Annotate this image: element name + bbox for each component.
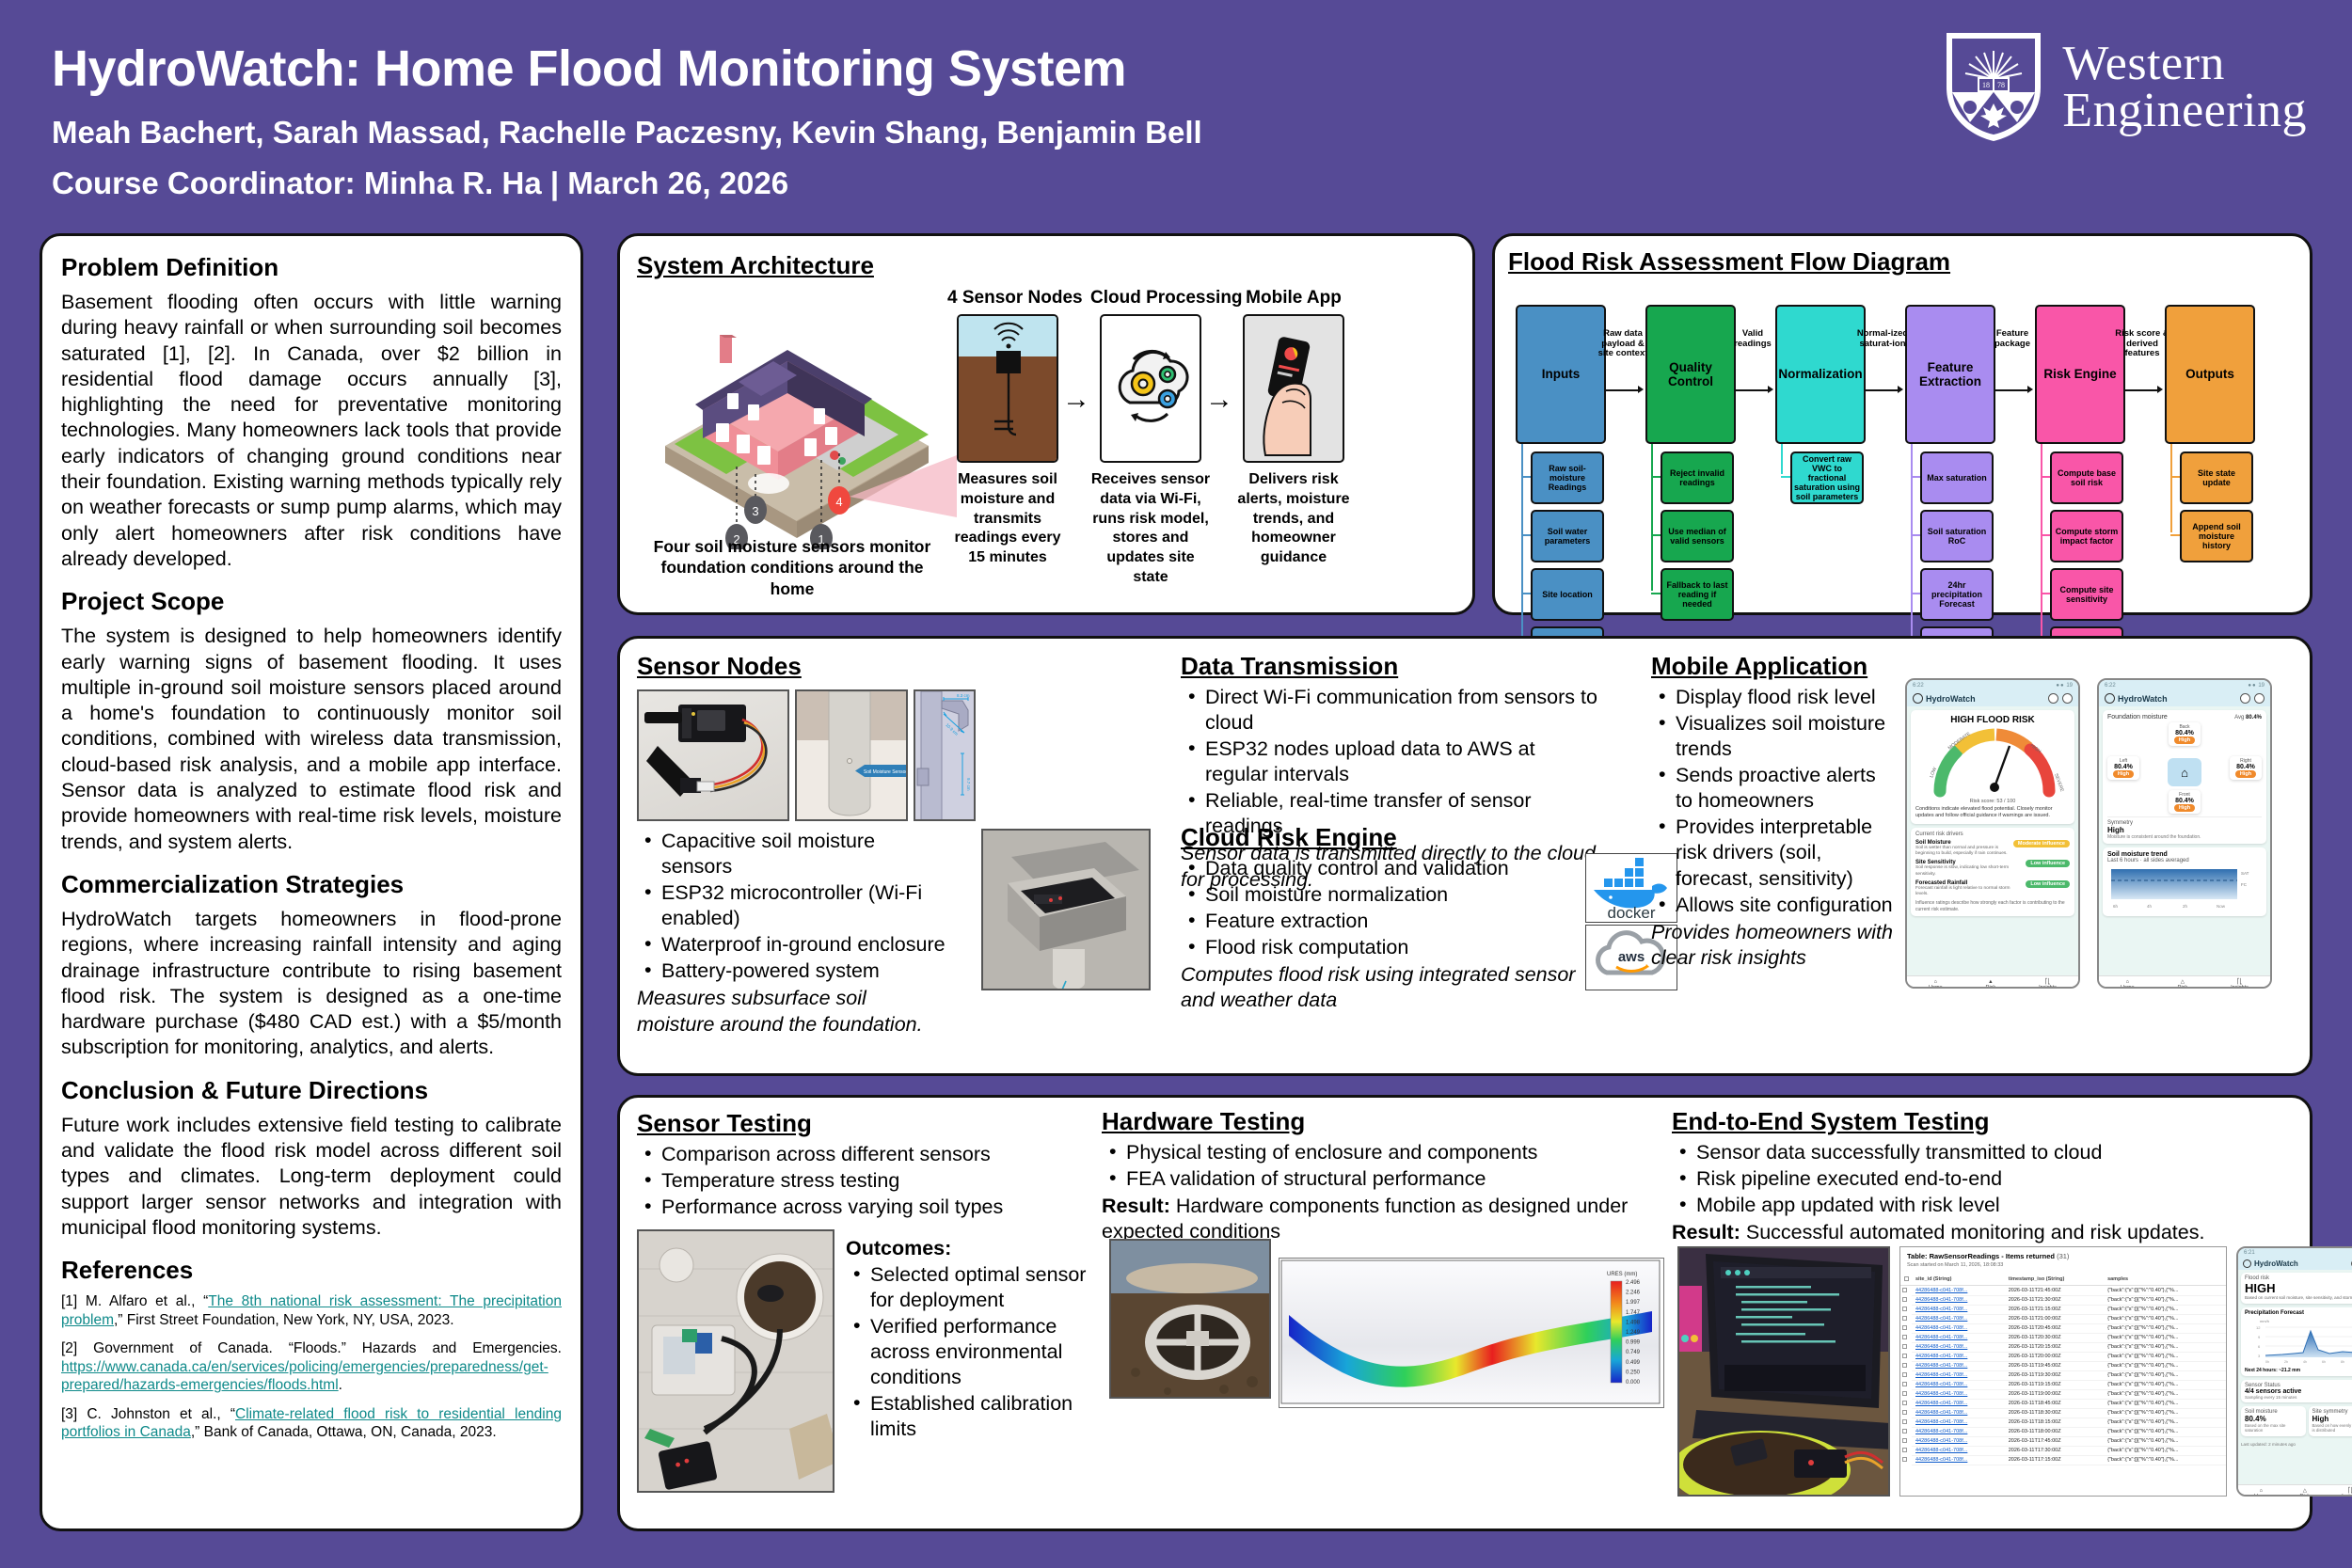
- site-id-link[interactable]: 44286488-c041-708f...: [1912, 1295, 2005, 1305]
- phone-mockup-risk: 6:22 ●● 19 HydroWatch HIGH FLOOD RISK: [1905, 678, 2080, 989]
- flow-edge-label: Feature package: [1984, 329, 2041, 349]
- svg-text:0h: 0h: [2265, 1360, 2269, 1364]
- risk-gauge: LOW MODERATE HIGH SEVERE: [1915, 727, 2074, 799]
- conclusion-body: Future work includes extensive field tes…: [61, 1113, 562, 1241]
- row-checkbox[interactable]: [1900, 1295, 1912, 1305]
- foundation-side-card: Left80.4%High: [2107, 756, 2139, 780]
- phone1-footnote: Influence ratings describe how strongly …: [1915, 900, 2070, 912]
- site-id-link[interactable]: 44286488-c041-708f...: [1912, 1418, 2005, 1427]
- row-checkbox[interactable]: [1900, 1333, 1912, 1342]
- phone3-symmetry-card: Site symmetry High Based on how evenly m…: [2309, 1406, 2352, 1436]
- hardware-result-label: Result:: [1102, 1195, 1170, 1217]
- table-cell: {"back":{"s":[]{"%":"0.40"},{"%...: [2104, 1380, 2226, 1389]
- table-cell: {"back":{"s":[]{"%":"0.40"},{"%...: [2104, 1446, 2226, 1455]
- phone3-status-bar: 6:21 ●● 70: [2238, 1248, 2352, 1258]
- system-architecture-heading: System Architecture: [637, 251, 1455, 280]
- reference-list: [1] M. Alfaro et al., “The 8th national …: [61, 1292, 562, 1442]
- photo-esp32-sensor: [637, 689, 789, 821]
- row-checkbox[interactable]: [1900, 1418, 1912, 1427]
- phone3-sym-desc: Based on how evenly moisture is distribu…: [2312, 1423, 2352, 1433]
- svg-text:6: 6: [2258, 1344, 2261, 1349]
- dynamodb-table-screenshot: Table: RawSensorReadings - Items returne…: [1899, 1246, 2227, 1497]
- flow-stage: Inputs: [1516, 305, 1606, 444]
- flow-substep: Compute base soil risk: [2050, 451, 2123, 504]
- bell-icon[interactable]: [2240, 693, 2250, 704]
- svg-text:3: 3: [2258, 1354, 2261, 1358]
- arrow-icon: [1898, 386, 1903, 393]
- column-header[interactable]: timestamp_iso (String): [2005, 1274, 2104, 1286]
- hydrowatch-logo-icon: [2243, 1259, 2251, 1268]
- column-header[interactable]: site_id (String): [1912, 1274, 2005, 1286]
- flow-branch-connector: [1911, 534, 1920, 536]
- dynamo-title: Table: RawSensorReadings - Items returne…: [1907, 1252, 2055, 1260]
- row-checkbox[interactable]: [1900, 1370, 1912, 1380]
- fea-legend-value: 0.999: [1626, 1340, 1641, 1346]
- list-item: Established calibration limits: [846, 1391, 1090, 1442]
- table-cell: 2026-03-11T18:00:00Z: [2005, 1427, 2104, 1436]
- flow-substep: Append soil moisture history: [2180, 510, 2253, 562]
- flow-substep: Compute storm impact factor: [2050, 510, 2123, 562]
- mobile-app-illustration: [1243, 314, 1344, 463]
- dynamo-subtitle: Scan started on March 11, 2026, 18:08:33: [1907, 1262, 2219, 1268]
- list-item: Feature extraction: [1181, 909, 1585, 934]
- row-checkbox[interactable]: [1900, 1427, 1912, 1436]
- table-row: 44286488-c041-708f...2026-03-11T17:45:00…: [1900, 1436, 2226, 1446]
- flow-connector: [1606, 389, 1640, 391]
- sensor-testing-heading: Sensor Testing: [637, 1109, 1107, 1138]
- nav-insights[interactable]: ⎡⎣Insights: [2342, 1488, 2352, 1497]
- table-cell: {"back":{"s":[]{"%":"0.40"},{"%...: [2104, 1370, 2226, 1380]
- reference-link[interactable]: https://www.canada.ca/en/services/polici…: [61, 1359, 548, 1394]
- flow-substep: Soil water parameters: [1531, 510, 1604, 562]
- nav-home[interactable]: ⌂Home: [2121, 979, 2135, 989]
- photo-enclosure-in-ground: [1109, 1239, 1271, 1399]
- table-cell: 2026-03-11T18:30:00Z: [2005, 1408, 2104, 1418]
- table-cell: {"back":{"s":[]{"%":"0.40"},{"%...: [2104, 1305, 2226, 1314]
- table-cell: 2026-03-11T17:30:00Z: [2005, 1446, 2104, 1455]
- list-item: Display flood risk level: [1651, 685, 1894, 710]
- nav-insights[interactable]: ⎡⎣Insights: [2039, 979, 2057, 989]
- fea-simulation-plot: URES (mm) 2.4962.2461.9971.7471.4981.249…: [1279, 1258, 1664, 1408]
- flow-branch-connector: [1651, 534, 1661, 536]
- phone2-time: 6:22: [2105, 683, 2116, 689]
- table-row: 44286488-c041-708f...2026-03-11T17:30:00…: [1900, 1446, 2226, 1455]
- row-checkbox[interactable]: [1900, 1455, 1912, 1465]
- site-id-link[interactable]: 44286488-c041-708f...: [1912, 1286, 2005, 1296]
- list-item: Waterproof in-ground enclosure: [637, 932, 947, 958]
- side-value: 80.4%: [2172, 730, 2197, 736]
- phone2-symmetry-value: High: [2107, 826, 2262, 834]
- flow-edge-label: Raw data payload & site context: [1595, 329, 1651, 359]
- phone2-trend-card: Soil moisture trend Last 6 hours · all s…: [2103, 847, 2266, 916]
- flow-branch-connector: [1521, 534, 1531, 536]
- row-checkbox[interactable]: [1900, 1314, 1912, 1323]
- reference-item: [1] M. Alfaro et al., “The 8th national …: [61, 1292, 562, 1329]
- svg-text:2h: 2h: [2183, 904, 2188, 909]
- phone1-risk-text: Conditions indicate elevated flood poten…: [1915, 806, 2070, 820]
- table-cell: 2026-03-11T19:45:00Z: [2005, 1361, 2104, 1370]
- hydrowatch-logo-icon: [2105, 693, 2115, 704]
- site-id-link[interactable]: 44286488-c041-708f...: [1912, 1352, 2005, 1361]
- site-id-link[interactable]: 44286488-c041-708f...: [1912, 1455, 2005, 1465]
- site-id-link[interactable]: 44286488-c041-708f...: [1912, 1370, 2005, 1380]
- fea-legend-value: 1.249: [1626, 1330, 1641, 1336]
- svg-text:4: 4: [835, 495, 842, 509]
- flow-branch-line: [2170, 444, 2172, 532]
- western-crest-icon: 18 78: [1942, 28, 2045, 146]
- fea-legend-value: 0.000: [1626, 1380, 1641, 1386]
- flow-branch-connector: [1651, 593, 1661, 594]
- svg-text:78: 78: [1997, 81, 2005, 89]
- stage-title: Mobile App: [1233, 288, 1354, 309]
- phone3-app-bar: HydroWatch: [2238, 1258, 2352, 1270]
- fea-legend-value: 1.997: [1626, 1300, 1641, 1306]
- table-cell: 2026-03-11T17:45:00Z: [2005, 1436, 2104, 1446]
- table-row: 44286488-c041-708f...2026-03-11T21:00:00…: [1900, 1314, 2226, 1323]
- flow-edge-label: Valid readings: [1724, 329, 1781, 349]
- sensor-testing-bullets: Comparison across different sensorsTempe…: [637, 1142, 1107, 1220]
- table-row: 44286488-c041-708f...2026-03-11T17:15:00…: [1900, 1455, 2226, 1465]
- phone2-trend-title: Soil moisture trend: [2107, 851, 2262, 858]
- problem-definition-heading: Problem Definition: [61, 253, 562, 282]
- flow-connector: [1995, 389, 2029, 391]
- side-value: 80.4%: [2111, 764, 2136, 770]
- gear-icon[interactable]: [2062, 693, 2073, 704]
- risk-driver-row: Site SensitivitySoil response is slow, i…: [1915, 860, 2070, 877]
- table-cell: 2026-03-11T20:15:00Z: [2005, 1342, 2104, 1352]
- row-checkbox[interactable]: [1900, 1380, 1912, 1389]
- flow-branch-connector: [1911, 476, 1920, 478]
- phone2-avg-value: 80.4%: [2246, 715, 2262, 721]
- site-id-link[interactable]: 44286488-c041-708f...: [1912, 1333, 2005, 1342]
- arrow-icon: →: [1062, 386, 1090, 414]
- list-item: Physical testing of enclosure and compon…: [1102, 1140, 1666, 1165]
- dynamo-count: (31): [2057, 1252, 2069, 1260]
- svg-text:Soil Moisture Sensor: Soil Moisture Sensor: [864, 769, 907, 775]
- list-item: Comparison across different sensors: [637, 1142, 1107, 1167]
- flow-substep: Max saturation: [1920, 451, 1994, 504]
- phone1-bottom-nav[interactable]: ⌂Home ▲Risk ⎡⎣Insights: [1907, 975, 2078, 989]
- list-item: Allows site configuration: [1651, 893, 1894, 918]
- table-header-row: site_id (String)timestamp_iso (String)sa…: [1900, 1274, 2226, 1286]
- project-scope-heading: Project Scope: [61, 587, 562, 616]
- flow-branch-connector: [1911, 593, 1920, 594]
- foundation-diagram: ⌂ Back80.4%HighLeft80.4%HighRight80.4%Hi…: [2107, 722, 2262, 816]
- row-checkbox[interactable]: [1900, 1323, 1912, 1333]
- table-row: 44286488-c041-708f...2026-03-11T18:45:00…: [1900, 1399, 2226, 1408]
- table-row: 44286488-c041-708f...2026-03-11T19:45:00…: [1900, 1361, 2226, 1370]
- moisture-trend-chart: SAT FC 6h 4h 2h Now: [2107, 865, 2260, 911]
- list-item: Battery-powered system: [637, 958, 947, 984]
- row-checkbox[interactable]: [1900, 1446, 1912, 1455]
- risk-driver-desc: Forecast rainfall is light relative to n…: [1915, 886, 2023, 897]
- phone2-foundation-card: Foundation moisture Avg 80.4% ⌂ Back80.4…: [2103, 710, 2266, 844]
- table-cell: 2026-03-11T17:15:00Z: [2005, 1455, 2104, 1465]
- table-cell: {"back":{"s":[]{"%":"0.40"},{"%...: [2104, 1436, 2226, 1446]
- flow-edge-label: Risk score & derived features: [2114, 329, 2170, 359]
- phone1-drivers-title: Current risk drivers: [1915, 832, 2070, 837]
- precipitation-forecast-chart: mm/h 12963 0h2h4h 6h8h12h: [2245, 1316, 2352, 1365]
- svg-text:8.3 cm: 8.3 cm: [957, 693, 970, 698]
- risk-driver-desc: Soil response is slow, indicating low sh…: [1915, 865, 2023, 877]
- side-value: 80.4%: [2233, 764, 2258, 770]
- flow-substep: Use median of valid sensors: [1661, 510, 1734, 562]
- system-architecture-panel: System Architecture: [617, 233, 1475, 615]
- table-row: 44286488-c041-708f...2026-03-11T19:00:00…: [1900, 1389, 2226, 1399]
- site-id-link[interactable]: 44286488-c041-708f...: [1912, 1380, 2005, 1389]
- row-checkbox[interactable]: [1900, 1286, 1912, 1296]
- phone3-risk-desc: Based on current soil moisture, site sen…: [2245, 1295, 2352, 1301]
- left-column-panel: Problem Definition Basement flooding oft…: [40, 233, 583, 1531]
- row-checkbox[interactable]: [1900, 1399, 1912, 1408]
- gear-icon[interactable]: [2254, 693, 2265, 704]
- svg-text:aws: aws: [1618, 949, 1645, 965]
- nav-risk[interactable]: ▲Risk: [1985, 979, 1995, 989]
- svg-text:9.7 cm: 9.7 cm: [966, 778, 971, 791]
- select-all-checkbox[interactable]: [1900, 1274, 1912, 1286]
- flow-branch-connector: [2041, 534, 2050, 536]
- svg-text:9: 9: [2258, 1335, 2261, 1339]
- site-id-link[interactable]: 44286488-c041-708f...: [1912, 1342, 2005, 1352]
- phone2-symmetry-desc: Moisture is consistent around the founda…: [2107, 834, 2262, 840]
- flow-diagram: InputsRaw data payload & site contextRaw…: [1508, 280, 2302, 591]
- list-item: Selected optimal sensor for deployment: [846, 1262, 1090, 1313]
- commercialization-heading: Commercialization Strategies: [61, 870, 562, 899]
- flow-stage: Risk Engine: [2035, 305, 2125, 444]
- outcomes-title: Outcomes:: [846, 1237, 1090, 1260]
- row-checkbox[interactable]: [1900, 1342, 1912, 1352]
- references-heading: References: [61, 1256, 562, 1285]
- nav-home[interactable]: ⌂Home: [1929, 979, 1943, 989]
- risk-driver-row: Soil MoistureSoil is wetter than normal …: [1915, 840, 2070, 857]
- sensor-nodes-bullets: Capacitive soil moisture sensorsESP32 mi…: [637, 829, 947, 984]
- flood-risk-flow-panel: Flood Risk Assessment Flow Diagram Input…: [1492, 233, 2312, 615]
- svg-text:4h: 4h: [2147, 904, 2153, 909]
- foundation-side-card: Back80.4%High: [2169, 722, 2201, 746]
- list-item: Visualizes soil moisture trends: [1651, 711, 1894, 762]
- column-header[interactable]: samples: [2104, 1274, 2226, 1286]
- flow-substep: Convert raw VWC to fractional saturation…: [1790, 451, 1864, 504]
- site-id-link[interactable]: 44286488-c041-708f...: [1912, 1408, 2005, 1418]
- list-item: Sends proactive alerts to homeowners: [1651, 763, 1894, 814]
- phone3-soil-desc: Based on the max site saturation: [2245, 1423, 2302, 1433]
- phone3-brand: HydroWatch: [2254, 1259, 2298, 1268]
- table-cell: {"back":{"s":[]{"%":"0.40"},{"%...: [2104, 1342, 2226, 1352]
- site-id-link[interactable]: 44286488-c041-708f...: [1912, 1446, 2005, 1455]
- phone1-risk-card: HIGH FLOOD RISK LOW MODERATE HIGH SEVERE…: [1911, 710, 2074, 824]
- phone1-app-bar: HydroWatch: [1907, 690, 2078, 706]
- phone1-risk-score: Risk score: 53 / 100: [1915, 799, 2070, 804]
- flow-branch-connector: [2170, 534, 2180, 536]
- nav-insights[interactable]: ⎡⎣Insights: [2231, 979, 2249, 989]
- phone1-drivers-card: Current risk drivers Soil MoistureSoil i…: [1911, 828, 2074, 916]
- phone1-brand: HydroWatch: [1926, 694, 1976, 704]
- sensor-node-illustration: [957, 314, 1058, 463]
- table-cell: {"back":{"s":[]{"%":"0.40"},{"%...: [2104, 1314, 2226, 1323]
- list-item: Sensor data successfully transmitted to …: [1672, 1140, 2293, 1165]
- table-row: 44286488-c041-708f...2026-03-11T19:30:00…: [1900, 1370, 2226, 1380]
- flow-substep: Compute site sensitivity: [2050, 568, 2123, 621]
- phone3-risk-value: HIGH: [2245, 1281, 2352, 1295]
- phone2-app-bar: HydroWatch: [2099, 690, 2270, 706]
- phone3-sensor-status-card: Sensor Status 4/4 sensors active Samplin…: [2241, 1380, 2352, 1402]
- author-list: Meah Bachert, Sarah Massad, Rachelle Pac…: [52, 115, 1202, 150]
- table-cell: {"back":{"s":[]{"%":"0.40"},{"%...: [2104, 1427, 2226, 1436]
- svg-text:2h: 2h: [2284, 1360, 2288, 1364]
- phone3-sensor-status-desc: Sampling every 15 minutes: [2245, 1395, 2352, 1400]
- flow-branch-connector: [2041, 593, 2050, 594]
- flow-branch-line: [1911, 444, 1913, 649]
- flow-stage: Normalization: [1775, 305, 1866, 444]
- stage-caption: Receives sensor data via Wi-Fi, runs ris…: [1090, 470, 1211, 588]
- table-row: 44286488-c041-708f...2026-03-11T19:15:00…: [1900, 1380, 2226, 1389]
- fea-legend-value: 1.747: [1626, 1310, 1641, 1316]
- row-checkbox[interactable]: [1900, 1361, 1912, 1370]
- status-badge: Low influence: [2026, 880, 2070, 888]
- flow-branch-line: [1651, 444, 1653, 591]
- svg-text:mm/h: mm/h: [2260, 1319, 2269, 1323]
- table-row: 44286488-c041-708f...2026-03-11T20:30:00…: [1900, 1333, 2226, 1342]
- row-checkbox[interactable]: [1900, 1389, 1912, 1399]
- table-cell: 2026-03-11T21:45:00Z: [2005, 1286, 2104, 1296]
- site-id-link[interactable]: 44286488-c041-708f...: [1912, 1427, 2005, 1436]
- table-row: 44286488-c041-708f...2026-03-11T21:30:00…: [1900, 1295, 2226, 1305]
- phone3-risk-card: Flood risk HIGH Based on current soil mo…: [2241, 1273, 2352, 1304]
- risk-driver-row: Forecasted RainfallForecast rainfall is …: [1915, 880, 2070, 897]
- logo-line-western: Western: [2062, 40, 2307, 87]
- nav-home[interactable]: ⌂Home: [2254, 1488, 2268, 1497]
- cloud-risk-engine-heading: Cloud Risk Engine: [1181, 823, 1585, 852]
- commercialization-body: HydroWatch targets homeowners in flood-p…: [61, 907, 562, 1061]
- fea-legend-value: 1.498: [1626, 1320, 1641, 1325]
- phone1-risk-title: HIGH FLOOD RISK: [1915, 715, 2070, 725]
- phone-mockup-home: 6:21 ●● 70 HydroWatch Flood risk HIGH Ba…: [2236, 1246, 2352, 1497]
- table-cell: 2026-03-11T21:00:00Z: [2005, 1314, 2104, 1323]
- data-transmission-heading: Data Transmission: [1181, 652, 1602, 681]
- svg-text:8h: 8h: [2341, 1360, 2344, 1364]
- svg-text:6h: 6h: [2322, 1360, 2326, 1364]
- site-id-link[interactable]: 44286488-c041-708f...: [1912, 1305, 2005, 1314]
- row-checkbox[interactable]: [1900, 1436, 1912, 1446]
- table-cell: {"back":{"s":[]{"%":"0.40"},{"%...: [2104, 1295, 2226, 1305]
- flow-stage: Outputs: [2165, 305, 2255, 444]
- phone2-bottom-nav[interactable]: ⌂Home △Risk ⎡⎣Insights: [2099, 975, 2270, 989]
- svg-text:6h: 6h: [2113, 904, 2119, 909]
- svg-text:18: 18: [1982, 81, 1990, 89]
- course-coordinator-line: Course Coordinator: Minha R. Ha | March …: [52, 166, 788, 201]
- sensor-nodes-italic: Measures subsurface soil moisture around…: [637, 986, 947, 1037]
- conclusion-heading: Conclusion & Future Directions: [61, 1076, 562, 1105]
- svg-text:FC: FC: [2241, 882, 2248, 887]
- hydrowatch-logo-icon: [1913, 693, 1923, 704]
- phone-mockup-foundation: 6:22 ●● 19 HydroWatch Foundation moistur…: [2097, 678, 2272, 989]
- reference-item: [2] Government of Canada. “Floods.” Haza…: [61, 1339, 562, 1395]
- phone2-brand: HydroWatch: [2118, 694, 2168, 704]
- table-row: 44286488-c041-708f...2026-03-11T21:15:00…: [1900, 1305, 2226, 1314]
- flow-stage: Feature Extraction: [1905, 305, 1995, 444]
- phone3-time: 6:21: [2244, 1250, 2255, 1256]
- stage-caption: Measures soil moisture and transmits rea…: [947, 470, 1068, 568]
- list-item: Flood risk computation: [1181, 935, 1585, 960]
- status-badge: Low influence: [2026, 860, 2070, 867]
- phone3-soil-card: Soil moisture 80.4% Based on the max sit…: [2241, 1406, 2306, 1436]
- phone3-sym-value: High: [2312, 1415, 2352, 1423]
- fea-legend-value: 0.499: [1626, 1360, 1641, 1366]
- hardware-result-text: Hardware components function as designed…: [1102, 1195, 1628, 1243]
- table-row: 44286488-c041-708f...2026-03-11T18:15:00…: [1900, 1418, 2226, 1427]
- table-row: 44286488-c041-708f...2026-03-11T20:15:00…: [1900, 1342, 2226, 1352]
- photo-sensor-bench-test: [637, 1229, 834, 1493]
- site-id-link[interactable]: 44286488-c041-708f...: [1912, 1436, 2005, 1446]
- table-row: 44286488-c041-708f...2026-03-11T21:45:00…: [1900, 1286, 2226, 1296]
- table-cell: {"back":{"s":[]{"%":"0.40"},{"%...: [2104, 1389, 2226, 1399]
- row-checkbox[interactable]: [1900, 1305, 1912, 1314]
- mobile-application-heading: Mobile Application: [1651, 652, 1894, 681]
- table-cell: {"back":{"s":[]{"%":"0.40"},{"%...: [2104, 1418, 2226, 1427]
- site-id-link[interactable]: 44286488-c041-708f...: [1912, 1323, 2005, 1333]
- page-title: HydroWatch: Home Flood Monitoring System: [52, 40, 1126, 98]
- table-cell: {"back":{"s":[]{"%":"0.40"},{"%...: [2104, 1455, 2226, 1465]
- row-checkbox[interactable]: [1900, 1408, 1912, 1418]
- e2e-result-label: Result:: [1672, 1221, 1740, 1243]
- list-item: Risk pipeline executed end-to-end: [1672, 1166, 2293, 1192]
- phone2-status-bar: 6:22 ●● 19: [2099, 680, 2270, 690]
- nav-risk[interactable]: △Risk: [2177, 979, 2187, 989]
- site-id-link[interactable]: 44286488-c041-708f...: [1912, 1399, 2005, 1408]
- svg-text:docker: docker: [1607, 904, 1655, 922]
- table-cell: 2026-03-11T20:30:00Z: [2005, 1333, 2104, 1342]
- table-row: 44286488-c041-708f...2026-03-11T18:00:00…: [1900, 1427, 2226, 1436]
- table-cell: 2026-03-11T21:30:00Z: [2005, 1295, 2104, 1305]
- arrow-icon: [2027, 386, 2033, 393]
- table-cell: 2026-03-11T18:15:00Z: [2005, 1418, 2104, 1427]
- phone3-updated: Last updated: 2 minutes ago: [2241, 1442, 2352, 1447]
- list-item: Temperature stress testing: [637, 1168, 1107, 1194]
- row-checkbox[interactable]: [1900, 1352, 1912, 1361]
- table-cell: {"back":{"s":[]{"%":"0.40"},{"%...: [2104, 1286, 2226, 1296]
- site-id-link[interactable]: 44286488-c041-708f...: [1912, 1361, 2005, 1370]
- list-item: Data quality control and validation: [1181, 856, 1585, 881]
- flow-branch-connector: [2170, 476, 2180, 478]
- project-scope-body: The system is designed to help homeowner…: [61, 624, 562, 855]
- arch-stage-cloud: Cloud Processing Receives sensor data vi…: [1090, 288, 1211, 588]
- fea-legend-value: 2.246: [1626, 1291, 1641, 1296]
- svg-text:12: 12: [2256, 1325, 2261, 1330]
- flow-branch-connector: [1521, 476, 1531, 478]
- table-cell: 2026-03-11T21:15:00Z: [2005, 1305, 2104, 1314]
- fea-legend-value: 0.749: [1626, 1350, 1641, 1355]
- list-item: Performance across varying soil types: [637, 1195, 1107, 1220]
- phone3-bottom-nav[interactable]: ⌂Home △Risk ⎡⎣Insights: [2238, 1484, 2352, 1497]
- svg-text:SAT: SAT: [2241, 871, 2249, 876]
- poster-header: HydroWatch: Home Flood Monitoring System…: [0, 0, 2352, 218]
- e2e-testing-bullets: Sensor data successfully transmitted to …: [1672, 1140, 2293, 1218]
- list-item: Direct Wi-Fi communication from sensors …: [1181, 685, 1602, 736]
- mobile-application-bullets: Display flood risk levelVisualizes soil …: [1651, 685, 1894, 918]
- nav-risk[interactable]: △Risk: [2299, 1488, 2310, 1497]
- table-cell: {"back":{"s":[]{"%":"0.40"},{"%...: [2104, 1408, 2226, 1418]
- site-id-link[interactable]: 44286488-c041-708f...: [1912, 1389, 2005, 1399]
- phone3-soil-value: 80.4%: [2245, 1415, 2302, 1423]
- table-cell: {"back":{"s":[]{"%":"0.40"},{"%...: [2104, 1333, 2226, 1342]
- bell-icon[interactable]: [2048, 693, 2058, 704]
- flow-substep: Site state update: [2180, 451, 2253, 504]
- site-id-link[interactable]: 44286488-c041-708f...: [1912, 1314, 2005, 1323]
- flow-connector: [1736, 389, 1770, 391]
- flow-substep: Fallback to last reading if needed: [1661, 568, 1734, 621]
- flow-branch-connector: [1521, 593, 1531, 594]
- cloud-processing-illustration: [1100, 314, 1201, 463]
